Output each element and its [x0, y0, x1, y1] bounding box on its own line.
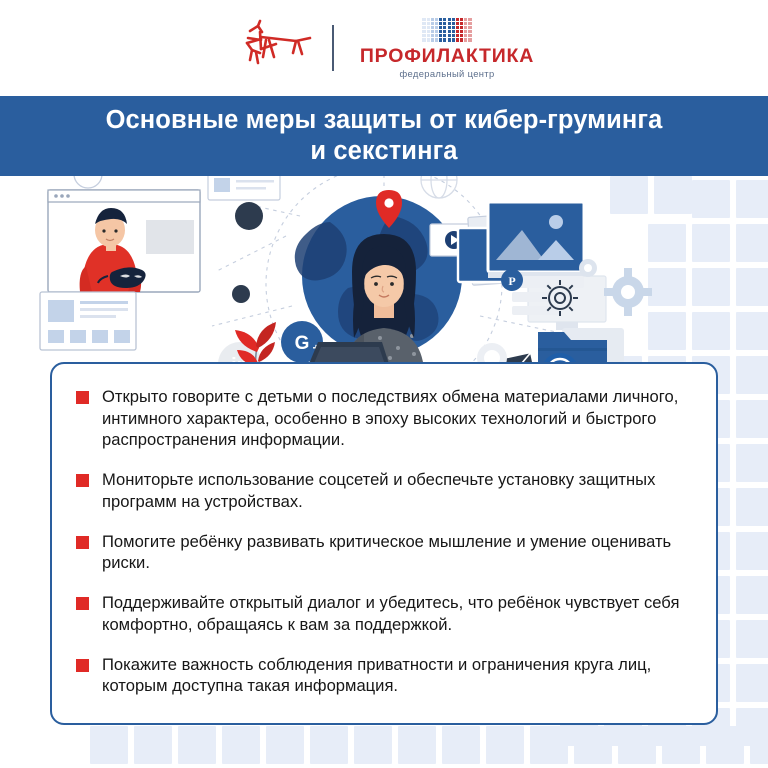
logo-pixel	[422, 30, 425, 33]
bullet-marker-icon	[76, 536, 89, 549]
logo-pixel	[452, 18, 455, 21]
gear-icon	[604, 268, 652, 316]
logo-pixel	[464, 30, 467, 33]
logo-pixel	[439, 26, 442, 29]
logo-pixel	[443, 38, 446, 41]
logo-pixel	[468, 22, 471, 25]
background-square	[178, 726, 216, 764]
logo-pixel	[422, 18, 425, 21]
dark-dot-icon	[235, 202, 263, 230]
logo-pixel	[431, 38, 434, 41]
logo-pixel	[468, 34, 471, 37]
logo-pixel	[456, 34, 459, 37]
bullet-text: Открыто говорите с детьми о последствиях…	[102, 386, 690, 451]
logo-pixel	[435, 26, 438, 29]
background-square	[486, 726, 524, 764]
bullet-text: Помогите ребёнку развивать критическое м…	[102, 531, 690, 574]
logo-pixel	[460, 22, 463, 25]
background-square	[736, 664, 768, 702]
page-title-line-2: и секстинга	[310, 137, 457, 165]
bullet-marker-icon	[76, 391, 89, 404]
logo-pixel	[435, 22, 438, 25]
logo-pixel	[439, 30, 442, 33]
background-square	[134, 726, 172, 764]
logo-pixel	[456, 22, 459, 25]
logo-pixel	[452, 30, 455, 33]
logo-pixel	[464, 18, 467, 21]
background-square	[398, 726, 436, 764]
background-square	[662, 726, 700, 764]
background-square	[90, 726, 128, 764]
logo-pixel	[439, 22, 442, 25]
logo-pixel	[464, 38, 467, 41]
background-square	[354, 726, 392, 764]
infographic-poster: ПРОФИЛАКТИКА федеральный центр Основные …	[0, 0, 768, 768]
logo-pixel	[431, 34, 434, 37]
logo-pixel	[452, 22, 455, 25]
logo-pixel	[422, 38, 425, 41]
bullet-critical-thinking: Помогите ребёнку развивать критическое м…	[76, 531, 690, 574]
bullet-text: Покажите важность соблюдения приватности…	[102, 654, 690, 697]
background-square	[706, 726, 744, 764]
background-square	[736, 620, 768, 658]
stranger-video-window-icon	[48, 190, 200, 292]
logo-pixel	[443, 26, 446, 29]
logo-pixel	[448, 38, 451, 41]
logo-pixel	[435, 38, 438, 41]
svg-text:G: G	[295, 333, 310, 354]
logo-pixel	[452, 26, 455, 29]
background-square	[574, 726, 612, 764]
logo-pixel	[448, 22, 451, 25]
page-title-line-1: Основные меры защиты от кибер-груминга	[106, 106, 663, 134]
logo-wordmark: ПРОФИЛАКТИКА	[360, 47, 534, 67]
logo-pixel	[460, 34, 463, 37]
background-square	[736, 444, 768, 482]
background-square	[222, 726, 260, 764]
photo-frame-icon	[458, 202, 584, 285]
logo-pixel	[427, 34, 430, 37]
bullet-list: Открыто говорите с детьми о последствиях…	[76, 386, 690, 697]
logo-pixel	[439, 34, 442, 37]
profilaktika-logo: ПРОФИЛАКТИКА федеральный центр	[360, 18, 534, 79]
logo-pixel	[443, 30, 446, 33]
logo-pixel	[452, 38, 455, 41]
dark-dot-icon	[232, 285, 250, 303]
logo-pixel	[452, 34, 455, 37]
logo-pixel	[427, 18, 430, 21]
background-square	[266, 726, 304, 764]
bullet-text: Поддерживайте открытый диалог и убедитес…	[102, 592, 690, 635]
page-title: Основные меры защиты от кибер-груминга и…	[66, 105, 703, 167]
bullet-open-talk: Открыто говорите с детьми о последствиях…	[76, 386, 690, 451]
background-square	[530, 726, 568, 764]
logo-pixel	[439, 38, 442, 41]
logo-divider	[332, 25, 334, 71]
bullet-marker-icon	[76, 659, 89, 672]
logo-pixel	[460, 38, 463, 41]
pinterest-icon: P	[501, 269, 523, 291]
logo-pixel	[460, 18, 463, 21]
logo-pixel	[422, 26, 425, 29]
document-card-icon	[40, 292, 136, 350]
logo-bar: ПРОФИЛАКТИКА федеральный центр	[0, 0, 768, 96]
bullet-marker-icon	[76, 597, 89, 610]
background-square	[750, 726, 768, 764]
gear-icon	[579, 259, 597, 277]
logo-pixel	[431, 26, 434, 29]
logo-pixel	[448, 18, 451, 21]
recommendations-card: Открыто говорите с детьми о последствиях…	[50, 362, 718, 725]
logo-subtitle: федеральный центр	[399, 69, 494, 78]
logo-pixel	[456, 30, 459, 33]
deer-line-art-icon	[234, 17, 318, 79]
background-square	[442, 726, 480, 764]
logo-pixel	[464, 22, 467, 25]
logo-pixel	[443, 34, 446, 37]
logo-pixel	[456, 38, 459, 41]
logo-pixel	[468, 38, 471, 41]
background-square	[736, 576, 768, 614]
logo-pixel	[443, 18, 446, 21]
background-square	[736, 708, 768, 746]
logo-pixel	[431, 22, 434, 25]
logo-pixel	[431, 30, 434, 33]
logo-pixel	[464, 26, 467, 29]
background-square	[310, 726, 348, 764]
logo-pixel	[468, 26, 471, 29]
logo-pixel	[464, 34, 467, 37]
logo-pixel	[427, 38, 430, 41]
logo-pixel	[456, 26, 459, 29]
logo-pixel	[448, 26, 451, 29]
logo-pixel	[468, 18, 471, 21]
background-square	[736, 400, 768, 438]
hero-illustration: G + in P	[0, 176, 768, 386]
logo-pixel	[435, 18, 438, 21]
bullet-marker-icon	[76, 474, 89, 487]
logo-pixel	[448, 34, 451, 37]
chat-bubble-icon	[74, 176, 102, 188]
logo-pixel	[427, 30, 430, 33]
background-square	[736, 488, 768, 526]
logo-pixel	[431, 18, 434, 21]
bullet-monitor-social: Мониторьте использование соцсетей и обес…	[76, 469, 690, 512]
pixel-grid-logo-icon	[422, 18, 471, 42]
logo-pixel	[439, 18, 442, 21]
logo-pixel	[422, 34, 425, 37]
logo-pixel	[460, 26, 463, 29]
logo-pixel	[468, 30, 471, 33]
logo-pixel	[448, 30, 451, 33]
logo-pixel	[427, 26, 430, 29]
logo-pixel	[460, 30, 463, 33]
logo-pixel	[456, 18, 459, 21]
logo-pixel	[435, 34, 438, 37]
logo-pixel	[427, 22, 430, 25]
globe-outline-icon	[421, 176, 457, 198]
mini-document-icon	[208, 176, 280, 200]
logo-pixel	[435, 30, 438, 33]
bullet-open-dialog: Поддерживайте открытый диалог и убедитес…	[76, 592, 690, 635]
logo-pixel	[422, 22, 425, 25]
background-square	[736, 532, 768, 570]
bullet-privacy: Покажите важность соблюдения приватности…	[76, 654, 690, 697]
svg-text:P: P	[508, 274, 515, 288]
title-banner: Основные меры защиты от кибер-груминга и…	[0, 96, 768, 176]
logo-pixel	[443, 22, 446, 25]
background-square	[618, 726, 656, 764]
bullet-text: Мониторьте использование соцсетей и обес…	[102, 469, 690, 512]
